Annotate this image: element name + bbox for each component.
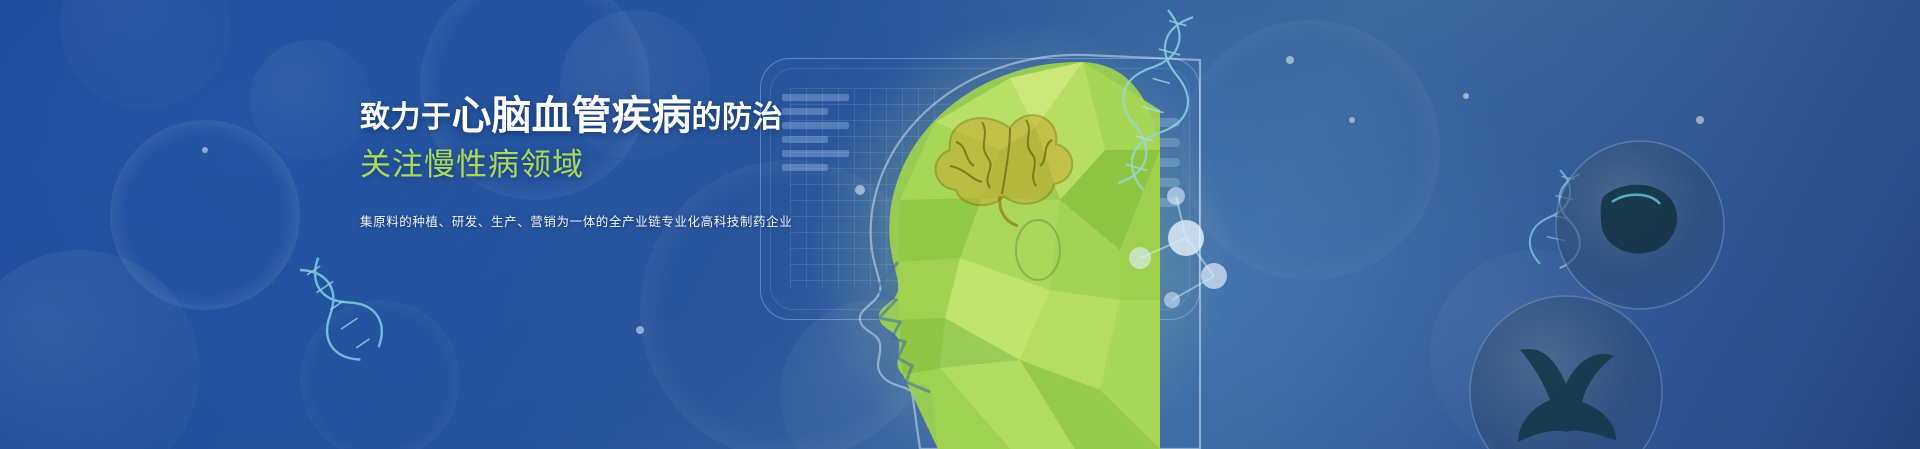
cell-top-right	[1556, 141, 1724, 309]
cell-bottom-right	[1470, 296, 1662, 449]
hero-banner: 致力于心脑血管疾病的防治 关注慢性病领域 集原料的种植、研发、生产、营销为一体的…	[0, 0, 1920, 449]
headline-emphasis: 心脑血管疾病	[452, 93, 692, 139]
banner-artwork	[0, 0, 1920, 449]
banner-copy: 致力于心脑血管疾病的防治 关注慢性病领域 集原料的种植、研发、生产、营销为一体的…	[360, 96, 790, 230]
headline-prefix: 致力于	[360, 100, 452, 135]
dna-helix-left	[286, 248, 392, 368]
headline: 致力于心脑血管疾病的防治	[360, 96, 790, 136]
headline-suffix: 的防治	[692, 100, 784, 135]
banner-caption: 集原料的种植、研发、生产、营销为一体的全产业链专业化高科技制药企业	[360, 211, 790, 230]
subheadline: 关注慢性病领域	[360, 150, 790, 181]
